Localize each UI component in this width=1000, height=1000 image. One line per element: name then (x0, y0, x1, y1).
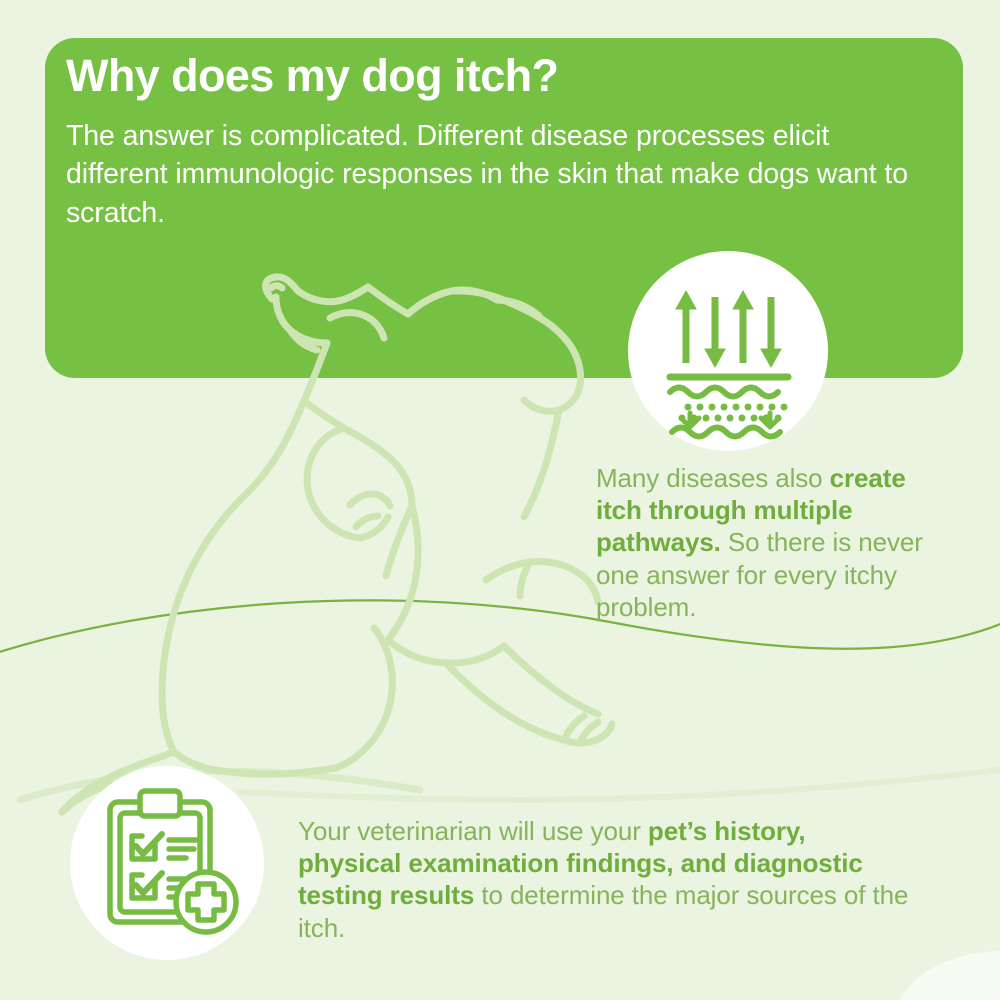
skin-barrier-arrows-icon (628, 251, 828, 451)
arrow-up-1 (676, 291, 696, 363)
skin-wave-1 (670, 388, 778, 397)
text-run-plain-1: Many diseases also (596, 463, 830, 493)
medical-badge-circle (176, 872, 236, 932)
header-text-group: Why does my dog itch? The answer is comp… (66, 52, 936, 232)
clipboard-icon-circle (70, 766, 264, 960)
ground-curve-tertiary (240, 770, 1000, 800)
skin-dot-row-1 (685, 404, 787, 410)
text-run-plain-3: Your veterinarian will use your (298, 816, 648, 846)
header-subtitle: The answer is complicated. Different dis… (66, 117, 926, 232)
corner-blob (900, 951, 1000, 1000)
page-title: Why does my dog itch? (66, 52, 936, 99)
arrow-down-2 (761, 297, 781, 367)
skin-barrier-text: Many diseases also create itch through m… (596, 462, 926, 623)
vet-diagnostics-text: Your veterinarian will use your pet’s hi… (298, 815, 913, 944)
infographic-canvas: Why does my dog itch? The answer is comp… (0, 0, 1000, 1000)
skin-wave-2 (672, 428, 780, 437)
arrow-down-1 (705, 297, 725, 367)
clipboard-clip (140, 791, 180, 816)
skin-barrier-icon-circle (628, 251, 828, 451)
arrow-up-2 (733, 291, 753, 363)
medical-clipboard-checklist-icon (70, 766, 264, 960)
